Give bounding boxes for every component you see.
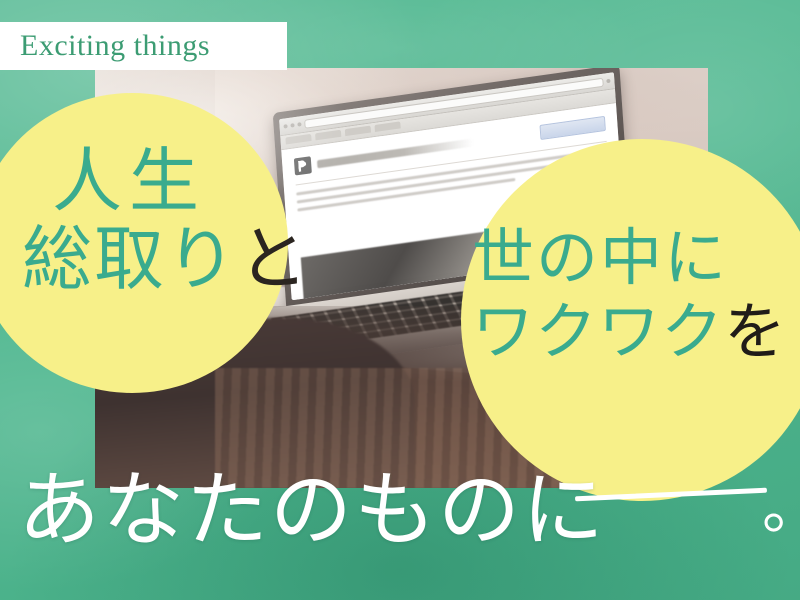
label-text: Exciting things [0, 29, 210, 63]
right-headline-line2-head: ワクワク [472, 299, 724, 367]
browser-reload-icon [297, 122, 301, 127]
bottom-headline: あなたのものに [18, 470, 606, 552]
left-headline-line2-head: 総取り [22, 222, 238, 299]
label-band: Exciting things [0, 22, 287, 70]
browser-forward-icon [290, 123, 294, 128]
photoshop-logo-icon [294, 156, 312, 175]
right-headline-line2-tail: を [724, 299, 787, 367]
bookmark-chip [315, 130, 341, 141]
bookmark-chip [374, 121, 400, 132]
left-headline-line2-tail: と [238, 222, 310, 299]
webpage-cta-button [539, 116, 605, 140]
browser-back-icon [283, 124, 287, 129]
left-headline-line1: 人生 [22, 148, 292, 218]
right-headline-line2: ワクワクを [472, 302, 800, 364]
promo-banner: Exciting things 人生 総取りと 世の中に ワクワクを あなたのも… [0, 0, 800, 600]
bookmark-chip [345, 126, 371, 137]
bottom-headline-period: 。 [762, 478, 800, 538]
bookmark-chip [285, 134, 311, 145]
right-headline: 世の中に ワクワクを [472, 228, 800, 364]
left-headline: 人生 総取りと [22, 148, 292, 296]
left-headline-line2: 総取りと [22, 226, 292, 296]
browser-menu-icon [606, 79, 610, 84]
right-headline-line1: 世の中に [472, 228, 800, 290]
